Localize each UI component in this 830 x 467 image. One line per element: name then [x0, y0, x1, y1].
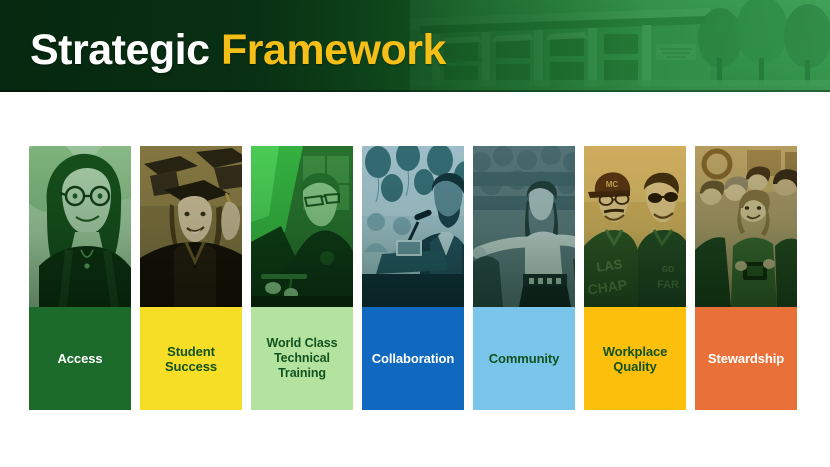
photo-blue-duotone-overlay [362, 146, 464, 307]
photo-teal-duotone-overlay [473, 146, 575, 307]
pillar-label-collaboration: Collaboration [372, 351, 454, 366]
pillar-label-band-collaboration: Collaboration [362, 307, 464, 410]
pillar-label-band-access: Access [29, 307, 131, 410]
speaker-at-microphone-photo [362, 146, 464, 307]
page-title: Strategic Framework [30, 28, 446, 72]
pillar-label-line-1: World Class [267, 336, 338, 350]
pillar-card-access[interactable]: Access [29, 146, 131, 410]
photo-sepia-green-duotone-overlay [695, 146, 797, 307]
photo-green-duotone-overlay [251, 146, 353, 307]
pillar-card-stewardship[interactable]: Stewardship [695, 146, 797, 410]
pillar-label-student-success: Student Success [165, 344, 217, 374]
page-title-part-two: Framework [221, 26, 446, 74]
pillar-card-workplace-quality[interactable]: MC [584, 146, 686, 410]
student-with-glasses-photo [29, 146, 131, 307]
pillar-label-band-workplace-quality: Workplace Quality [584, 307, 686, 410]
pillar-label-access: Access [58, 351, 103, 366]
pillar-card-world-class-technical-training[interactable]: World Class Technical Training [251, 146, 353, 410]
group-at-ceremony-photo [695, 146, 797, 307]
crowd-cheering-photo [473, 146, 575, 307]
pillar-label-stewardship: Stewardship [708, 351, 784, 366]
two-employees-smiling-photo: MC [584, 146, 686, 307]
photo-gold-green-duotone-overlay [584, 146, 686, 307]
photo-green-duotone-overlay [29, 146, 131, 307]
pillar-label-band-stewardship: Stewardship [695, 307, 797, 410]
pillar-label-line-1: Workplace [603, 344, 668, 359]
pillar-label-world-class-technical-training: World Class Technical Training [267, 336, 338, 381]
pillar-label-line-3: Training [278, 366, 326, 380]
pillar-card-collaboration[interactable]: Collaboration [362, 146, 464, 410]
graduates-in-caps-photo [140, 146, 242, 307]
pillar-label-band-world-class-technical-training: World Class Technical Training [251, 307, 353, 410]
page-header-banner: Strategic Framework [0, 0, 830, 92]
pillar-label-line-2: Quality [613, 359, 656, 374]
banner-bottom-divider [0, 90, 830, 92]
pillar-label-band-student-success: Student Success [140, 307, 242, 410]
pillar-card-community[interactable]: Community [473, 146, 575, 410]
technical-training-student-photo [251, 146, 353, 307]
pillar-label-community: Community [489, 351, 560, 366]
page-title-part-one: Strategic [30, 26, 210, 74]
pillar-label-line-2: Technical [274, 351, 330, 365]
pillar-label-band-community: Community [473, 307, 575, 410]
pillar-label-line-2: Success [165, 359, 217, 374]
strategic-pillars-row: Access [29, 146, 797, 410]
pillar-label-workplace-quality: Workplace Quality [603, 344, 668, 374]
pillar-card-student-success[interactable]: Student Success [140, 146, 242, 410]
pillar-label-line-1: Student [167, 344, 215, 359]
photo-sepia-duotone-overlay [140, 146, 242, 307]
